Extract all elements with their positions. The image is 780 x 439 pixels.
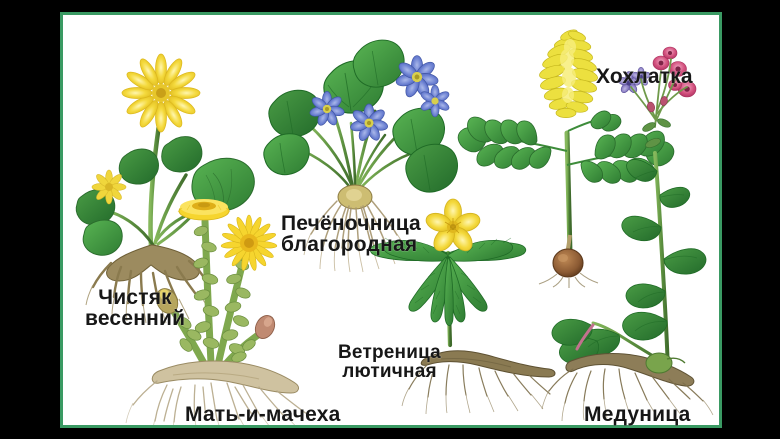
- hohlatka-tuber: [539, 235, 598, 288]
- label-mat-i-machekha: Мать-и-мачеха: [185, 404, 341, 425]
- mat-flower-right: [221, 215, 277, 271]
- label-chistyak: Чистяк весенний: [85, 287, 185, 330]
- letterbox-bar-right: [725, 0, 780, 439]
- mat-flower-left: [178, 199, 230, 220]
- chistyak-flower-bud: [92, 170, 126, 204]
- slide-frame: Чистяк весенний Печёночница благородная …: [60, 12, 722, 428]
- label-pechenochnitsa: Печёночница благородная: [281, 213, 421, 256]
- slide-stage: Чистяк весенний Печёночница благородная …: [0, 0, 780, 439]
- letterbox-bar-left: [0, 0, 58, 439]
- label-medunitsa: Медуница: [584, 404, 690, 425]
- label-vetrenitsa: Ветреница лютичная: [338, 343, 441, 382]
- hohlatka-flowers: [538, 28, 599, 118]
- chistyak-flower-main: [122, 54, 200, 132]
- label-hohlatka: Хохлатка: [596, 66, 693, 87]
